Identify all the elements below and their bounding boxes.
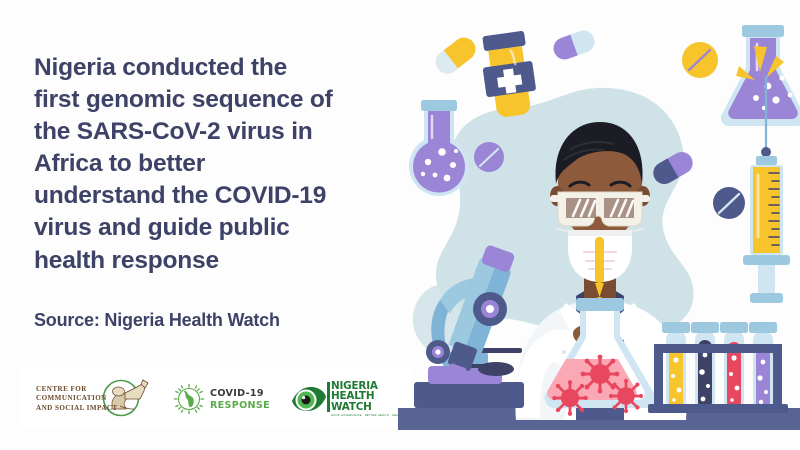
logo-nhw-divider [327, 382, 330, 412]
round-flask-purple [409, 100, 469, 196]
capsule-pill-yellow [431, 33, 480, 78]
logo-covid-response: COVID-19 RESPONSE [172, 368, 290, 430]
test-tube-navy [691, 322, 719, 412]
test-tube-purple [749, 322, 777, 412]
poster-canvas: Nigeria conducted the first genomic sequ… [0, 0, 800, 450]
logo-nigeria-health-watch: NIGERIA HEALTH WATCH GOOD GOVERNANCE · B… [290, 368, 410, 430]
logo-ccsi: CENTRE FOR COMMUNICATION AND SOCIAL IMPA… [22, 368, 172, 430]
logo-covid-line2: RESPONSE [210, 400, 270, 411]
test-tube-rack [648, 322, 788, 413]
conical-flask-purple [721, 25, 800, 126]
round-tablet-yellow [682, 42, 718, 78]
test-tube-red [720, 322, 748, 412]
logo-covid-words: COVID-19 RESPONSE [210, 388, 270, 411]
illustration-scientist-in-laboratory [398, 0, 800, 450]
round-tablet-purple [474, 142, 504, 172]
logo-ccsi-text: CENTRE FOR COMMUNICATION AND SOCIAL IMPA… [36, 385, 118, 413]
africa-globe-icon [172, 382, 206, 416]
logo-bar: CENTRE FOR COMMUNICATION AND SOCIAL IMPA… [22, 368, 412, 430]
source-credit: Source: Nigeria Health Watch [34, 310, 414, 331]
headline: Nigeria conducted the first genomic sequ… [34, 52, 404, 277]
logo-covid-line1: COVID-19 [210, 388, 270, 399]
medicine-bottle [478, 30, 539, 119]
eye-icon [290, 384, 328, 414]
round-tablet-navy [713, 187, 745, 219]
capsule-pill-purple [551, 27, 598, 62]
